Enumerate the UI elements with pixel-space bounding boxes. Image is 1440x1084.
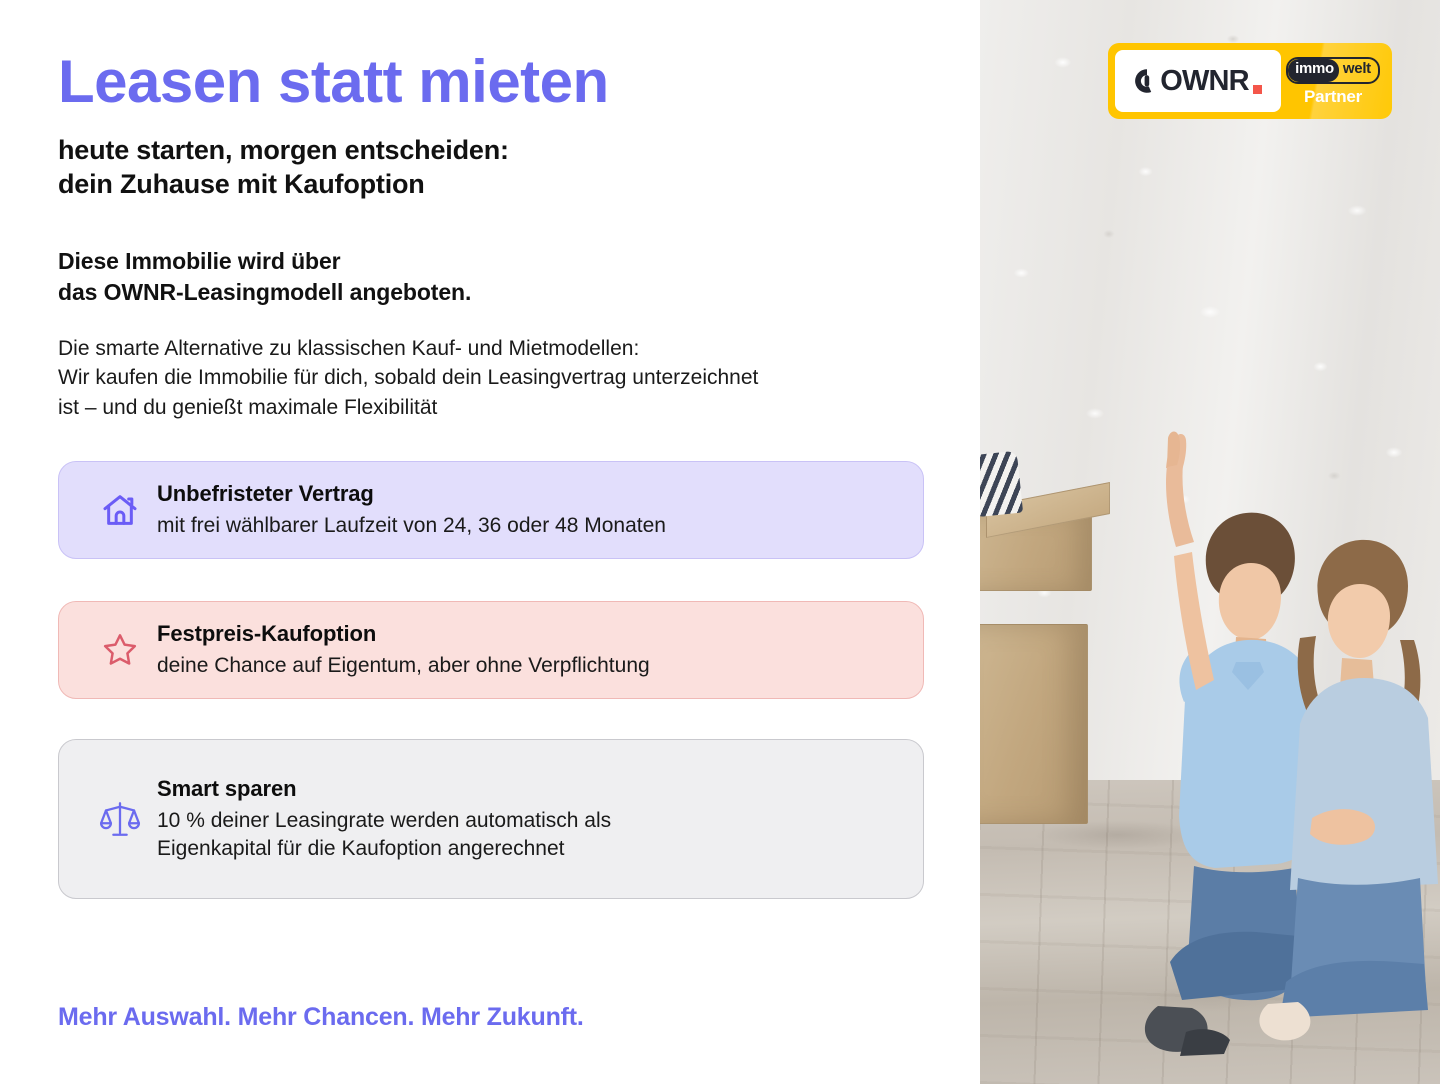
feature-card-text: Festpreis-Kaufoption deine Chance auf Ei… xyxy=(157,620,899,679)
feature-card-title: Smart sparen xyxy=(157,775,899,804)
hero-photo: OWNR immo welt Partner xyxy=(980,0,1440,1084)
lead-line-1: Diese Immobilie wird über xyxy=(58,246,924,277)
feature-card-desc-line-1: deine Chance auf Eigentum, aber ohne Ver… xyxy=(157,652,899,680)
star-icon xyxy=(83,630,157,670)
ownr-logo: OWNR xyxy=(1134,67,1262,96)
ownr-logo-plate: OWNR xyxy=(1115,50,1281,112)
promo-flyer: Leasen statt mieten heute starten, morge… xyxy=(0,0,1440,1084)
ownr-wordmark: OWNR xyxy=(1160,67,1249,96)
partner-label: Partner xyxy=(1304,88,1362,105)
feature-card-description: deine Chance auf Eigentum, aber ohne Ver… xyxy=(157,652,899,680)
footer-tagline: Mehr Auswahl. Mehr Chancen. Mehr Zukunft… xyxy=(58,1003,584,1032)
feature-card-title: Unbefristeter Vertrag xyxy=(157,480,899,509)
feature-card-text: Unbefristeter Vertrag mit frei wählbarer… xyxy=(157,480,899,539)
couple-photo-subject xyxy=(980,0,1440,1084)
house-icon xyxy=(83,490,157,530)
page-title: Leasen statt mieten xyxy=(58,0,924,115)
content-column: Leasen statt mieten heute starten, morge… xyxy=(0,0,980,1084)
feature-card-desc-line-2: Eigenkapital für die Kaufoption angerech… xyxy=(157,835,899,863)
feature-card-text: Smart sparen 10 % deiner Leasingrate wer… xyxy=(157,775,899,862)
feature-card-title: Festpreis-Kaufoption xyxy=(157,620,899,649)
subheadline-line-1: heute starten, morgen entscheiden: xyxy=(58,133,924,168)
lead-line-2: das OWNR-Leasingmodell angeboten. xyxy=(58,277,924,308)
lead-paragraph: Diese Immobilie wird über das OWNR-Leasi… xyxy=(58,246,924,308)
partner-badge: OWNR immo welt Partner xyxy=(1108,43,1392,119)
feature-card-unbefristeter-vertrag: Unbefristeter Vertrag mit frei wählbarer… xyxy=(58,461,924,559)
body-line-1: Die smarte Alternative zu klassischen Ka… xyxy=(58,334,924,364)
ownr-dot xyxy=(1253,85,1262,94)
feature-card-list: Unbefristeter Vertrag mit frei wählbarer… xyxy=(58,461,924,899)
ownr-o-mark xyxy=(1134,68,1160,94)
immowelt-immo-text: immo xyxy=(1288,59,1339,82)
subheadline-line-2: dein Zuhause mit Kaufoption xyxy=(58,167,924,202)
immowelt-partner-block: immo welt Partner xyxy=(1281,57,1385,105)
body-paragraph: Die smarte Alternative zu klassischen Ka… xyxy=(58,334,924,423)
immowelt-logo: immo welt xyxy=(1286,57,1380,84)
feature-card-description: mit frei wählbarer Laufzeit von 24, 36 o… xyxy=(157,512,899,540)
feature-card-smart-sparen: Smart sparen 10 % deiner Leasingrate wer… xyxy=(58,739,924,899)
feature-card-desc-line-1: mit frei wählbarer Laufzeit von 24, 36 o… xyxy=(157,512,899,540)
body-line-2: Wir kaufen die Immobilie für dich, sobal… xyxy=(58,363,924,393)
feature-card-description: 10 % deiner Leasingrate werden automatis… xyxy=(157,807,899,862)
feature-card-desc-line-1: 10 % deiner Leasingrate werden automatis… xyxy=(157,807,899,835)
immowelt-welt-text: welt xyxy=(1339,59,1378,82)
body-line-3: ist – und du genießt maximale Flexibilit… xyxy=(58,393,924,423)
balance-scales-icon xyxy=(83,798,157,840)
feature-card-festpreis-kaufoption: Festpreis-Kaufoption deine Chance auf Ei… xyxy=(58,601,924,699)
subheadline: heute starten, morgen entscheiden: dein … xyxy=(58,133,924,202)
